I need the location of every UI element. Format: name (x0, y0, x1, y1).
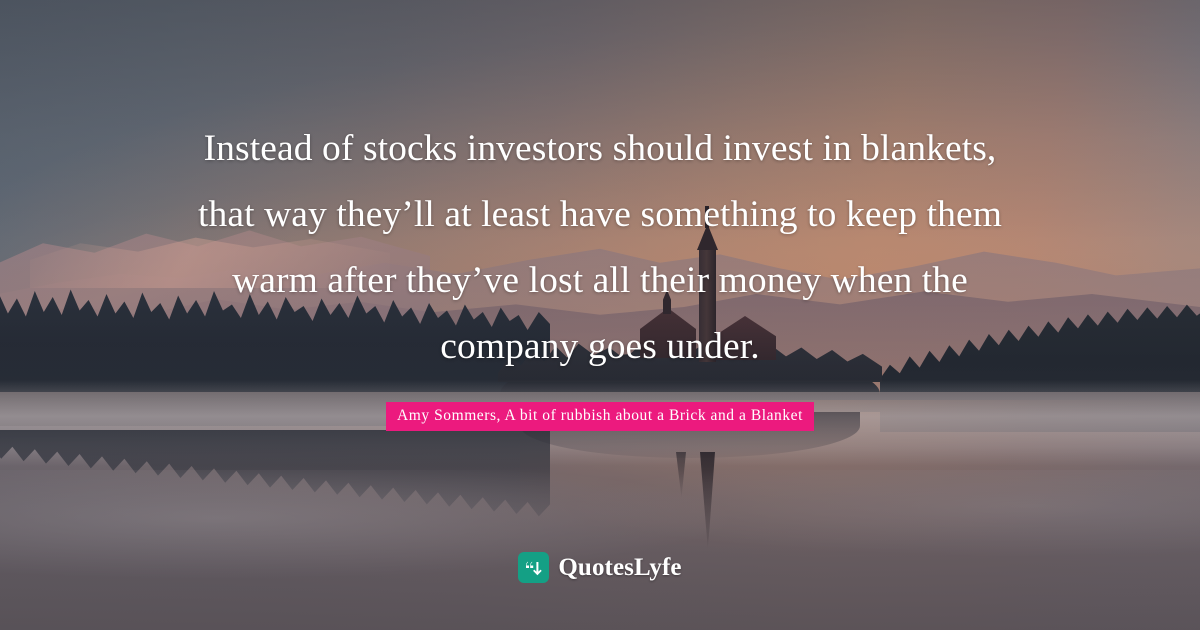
brand-logo: QuotesLyfe (0, 552, 1200, 583)
brand-name: QuotesLyfe (558, 554, 681, 582)
attribution-row: Amy Sommers, A bit of rubbish about a Br… (0, 402, 1200, 431)
quote-image-card: Instead of stocks investors should inves… (0, 0, 1200, 630)
quote-attribution: Amy Sommers, A bit of rubbish about a Br… (386, 402, 814, 431)
quote-mark-icon (518, 552, 549, 583)
quote-content: Instead of stocks investors should inves… (0, 0, 1200, 630)
quote-text: Instead of stocks investors should inves… (190, 116, 1010, 380)
